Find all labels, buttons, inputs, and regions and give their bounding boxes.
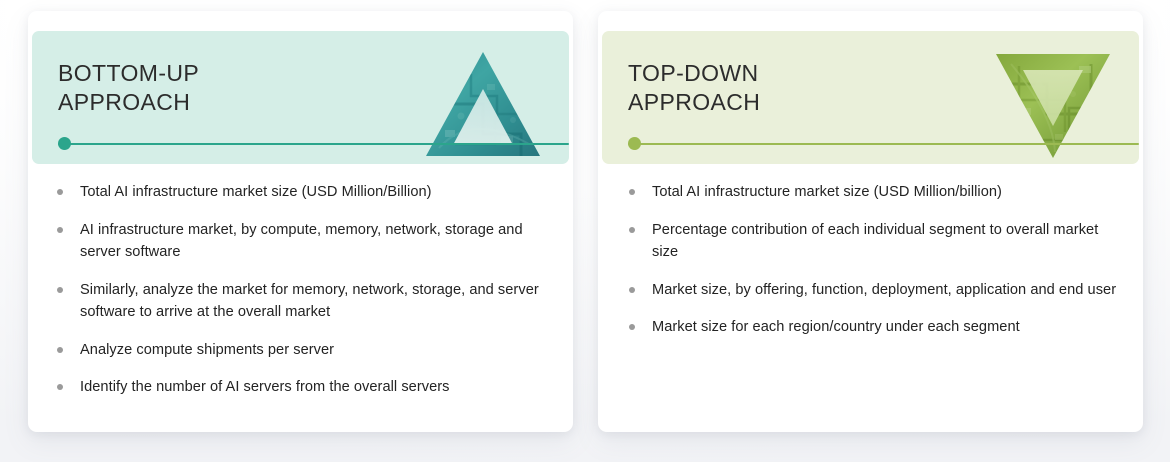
panel-rule-top-down [628,143,1139,145]
list-item: Analyze compute shipments per server [28,339,551,362]
panel-title-bottom-up: BOTTOM-UP APPROACH [58,59,199,117]
panel-rule-dot-bottom-up [58,137,71,150]
list-item: Total AI infrastructure market size (USD… [598,181,1121,204]
list-item: AI infrastructure market, by compute, me… [28,219,551,264]
panel-top-down: TOP-DOWN APPROACH [598,11,1143,432]
list-item: Percentage contribution of each individu… [598,219,1121,264]
list-item: Market size, by offering, function, depl… [598,279,1121,302]
panel-rule-bottom-up [58,143,569,145]
triangle-up-icon [425,44,565,164]
panel-rule-dot-top-down [628,137,641,150]
bullet-list-bottom-up: Total AI infrastructure market size (USD… [28,181,573,399]
panel-header-bottom-up: BOTTOM-UP APPROACH [32,31,569,164]
list-item: Market size for each region/country unde… [598,316,1121,339]
panel-bottom-up: BOTTOM-UP APPROACH [28,11,573,432]
approach-panels: BOTTOM-UP APPROACH [0,0,1170,462]
triangle-down-icon [995,44,1135,164]
list-item: Similarly, analyze the market for memory… [28,279,551,324]
panel-title-top-down: TOP-DOWN APPROACH [628,59,760,117]
list-item: Identify the number of AI servers from t… [28,376,551,399]
panel-header-top-down: TOP-DOWN APPROACH [602,31,1139,164]
bullet-list-top-down: Total AI infrastructure market size (USD… [598,181,1143,339]
list-item: Total AI infrastructure market size (USD… [28,181,551,204]
